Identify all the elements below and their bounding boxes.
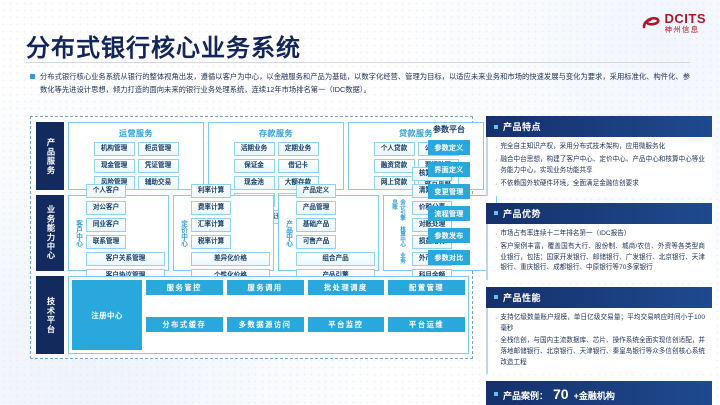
panel-header: 产品特点 bbox=[486, 116, 712, 137]
intro-paragraph: 分布式银行核心业务系统从银行的整体视角出发，遵循以客户为中心，以金融服务和产品为… bbox=[30, 70, 690, 97]
cell-item[interactable]: 联系管理 bbox=[86, 235, 126, 249]
case-label: 产品案例： bbox=[503, 389, 548, 402]
cell-item[interactable]: 保证金 bbox=[234, 159, 275, 173]
cell-item[interactable]: 利率计算 bbox=[191, 184, 231, 198]
panel-title: 产品优势 bbox=[503, 207, 541, 220]
logo-brand-text: DCITS bbox=[665, 12, 707, 25]
cell-item[interactable]: 定期业务 bbox=[278, 142, 319, 156]
parameter-platform-title: 参数平台 bbox=[428, 124, 470, 135]
panel-product-performance: 产品性能 · 支持亿级数量账户规模，单日亿级交易量；平均交易响应时间小于100毫… bbox=[486, 287, 712, 374]
list-item-text: 不依赖国外软硬件环境，全面满足金融信创要求 bbox=[500, 179, 638, 190]
cell-item[interactable]: 个人贷款 bbox=[374, 142, 415, 156]
side-label-accounting-center: 会计引擎 核算中心 业务总账 bbox=[387, 199, 409, 267]
list-item: · 完全自主知识产权，采用分布式技术架构，应用微服务化 bbox=[495, 142, 705, 153]
tech-button-grid: 服务管控 服务调用 批处理调度 配置管理 分布式缓存 多数据源访问 平台监控 平… bbox=[146, 280, 465, 350]
panel-product-advantages: 产品优势 · 市场占有率连续十二年排名第一（IDC报告） · 客户案例丰富，覆盖… bbox=[486, 203, 712, 280]
list-item-text: 市场占有率连续十二年排名第一（IDC报告） bbox=[500, 229, 630, 240]
architecture-diagram: 产品服务 运营服务 机构管理 柜员管理 现金管理 凭证管理 风险管理 辅助交易 … bbox=[30, 116, 473, 359]
panel-title: 产品性能 bbox=[503, 291, 541, 304]
group-operation-services: 运营服务 机构管理 柜员管理 现金管理 凭证管理 风险管理 辅助交易 bbox=[68, 122, 204, 190]
tech-button[interactable]: 多数据源访问 bbox=[227, 317, 304, 332]
list-item-text: 支持亿级数量账户规模，单日亿级交易量；平均交易响应时间小于100毫秒 bbox=[500, 313, 705, 334]
cell-item[interactable]: 组合产品 bbox=[296, 252, 375, 266]
cell-item[interactable]: 网上贷款 bbox=[374, 176, 415, 190]
list-bullet-icon: · bbox=[495, 229, 497, 240]
group-title-deposit: 存款服务 bbox=[212, 126, 340, 142]
cell-list-customer-center: 个人客户 对公客户 同业客户 联系管理 客户关系管理 客户协议管理 bbox=[86, 199, 165, 267]
cell-item[interactable]: 汇率计算 bbox=[191, 218, 231, 232]
panel-body: · 完全自主知识产权，采用分布式技术架构，应用微服务化 · 融合中台思想，构建了… bbox=[486, 137, 712, 196]
page-title: 分布式银行核心业务系统 bbox=[26, 28, 301, 63]
group-pricing-center: 定价中心 利率计算 费率计算 汇率计算 税率计算 差异化价格 个性化价格 bbox=[173, 195, 274, 271]
panel-product-features: 产品特点 · 完全自主知识产权，采用分布式技术架构，应用微服务化 · 融合中台思… bbox=[486, 116, 712, 196]
cell-item[interactable]: 现金管理 bbox=[94, 159, 135, 173]
tech-button[interactable]: 服务调用 bbox=[227, 280, 304, 295]
side-label-product-center: 产品中心 bbox=[282, 199, 293, 267]
group-customer-center: 客户中心 个人客户 对公客户 同业客户 联系管理 客户关系管理 客户协议管理 bbox=[68, 195, 169, 271]
cell-item[interactable]: 税率计算 bbox=[191, 235, 231, 249]
product-case-banner: 产品案例： 70 +金融机构 bbox=[486, 381, 712, 405]
dcits-logo-mark-icon bbox=[641, 13, 661, 33]
panel-title: 产品特点 bbox=[503, 120, 541, 133]
logo-brand-cn: 神州信息 bbox=[665, 26, 707, 34]
band-label-tech-platform: 技术平台 bbox=[36, 276, 64, 354]
panel-bullet-icon bbox=[494, 295, 498, 299]
case-suffix: +金融机构 bbox=[574, 389, 615, 402]
cell-item[interactable]: 个人客户 bbox=[86, 184, 126, 198]
bullet-square-icon bbox=[30, 74, 35, 79]
cell-item[interactable]: 费率计算 bbox=[191, 201, 231, 215]
list-item-text: 完全自主知识产权，采用分布式技术架构，应用微服务化 bbox=[500, 142, 665, 153]
tech-button[interactable]: 服务管控 bbox=[146, 280, 223, 295]
list-bullet-icon: · bbox=[495, 179, 497, 190]
tech-platform-panel: 注册中心 服务管控 服务调用 批处理调度 配置管理 分布式缓存 多数据源访问 平… bbox=[68, 276, 469, 354]
cell-item[interactable]: 差异化价格 bbox=[191, 252, 270, 266]
param-button[interactable]: 变更管理 bbox=[428, 184, 470, 199]
list-bullet-icon: · bbox=[495, 313, 497, 334]
band-label-product-services: 产品服务 bbox=[36, 122, 64, 190]
side-label-pricing-center: 定价中心 bbox=[177, 199, 188, 267]
list-item: · 不依赖国外软硬件环境，全面满足金融信创要求 bbox=[495, 179, 705, 190]
cell-list-pricing-center: 利率计算 费率计算 汇率计算 税率计算 差异化价格 个性化价格 bbox=[191, 199, 270, 267]
cell-item[interactable]: 同业客户 bbox=[86, 218, 126, 232]
tech-button[interactable]: 平台监控 bbox=[308, 317, 385, 332]
cell-item[interactable]: 辅助交易 bbox=[138, 176, 179, 190]
case-bullet-icon bbox=[494, 392, 498, 396]
param-button[interactable]: 流程管理 bbox=[428, 206, 470, 221]
cell-item[interactable]: 基础产品 bbox=[296, 218, 336, 232]
list-item: · 市场占有率连续十二年排名第一（IDC报告） bbox=[495, 229, 705, 240]
cell-item[interactable]: 产品管理 bbox=[296, 201, 336, 215]
slide-root: DCITS 神州信息 分布式银行核心业务系统 分布式银行核心业务系统从银行的整体… bbox=[0, 0, 720, 405]
param-button[interactable]: 参数对比 bbox=[428, 250, 470, 265]
cell-item[interactable]: 借记卡 bbox=[278, 159, 319, 173]
panel-body: · 支持亿级数量账户规模，单日亿级交易量；平均交易响应时间小于100毫秒 · 全… bbox=[486, 308, 712, 374]
list-bullet-icon: · bbox=[495, 242, 497, 274]
param-button[interactable]: 参数定义 bbox=[428, 140, 470, 155]
panel-header: 产品性能 bbox=[486, 287, 712, 308]
side-label-customer-center: 客户中心 bbox=[72, 199, 83, 267]
panel-header: 产品优势 bbox=[486, 203, 712, 224]
list-item-text: 全栈信创，与国内主流数据库、芯片、操作系统全面实现信创适配，并落地邮储银行、北京… bbox=[500, 336, 705, 368]
group-title-operation: 运营服务 bbox=[72, 126, 200, 142]
dcits-logo: DCITS 神州信息 bbox=[641, 12, 707, 34]
cell-item[interactable]: 产品定义 bbox=[296, 184, 336, 198]
cell-item[interactable]: 凭证管理 bbox=[138, 159, 179, 173]
cell-list-product-center: 产品定义 产品管理 基础产品 可售产品 组合产品 产品引擎 bbox=[296, 199, 375, 267]
band-label-business-capability: 业务能力中心 bbox=[36, 195, 64, 271]
tech-button[interactable]: 平台运维 bbox=[388, 317, 465, 332]
list-item: · 客户案例丰富，覆盖国有大行、股份制、城商/农信、外资等各类型商业银行，包括：… bbox=[495, 242, 705, 274]
title-divider bbox=[26, 62, 690, 63]
cell-item[interactable]: 活期业务 bbox=[234, 142, 275, 156]
cell-item[interactable]: 客户关系管理 bbox=[86, 252, 165, 266]
param-button[interactable]: 参数发布 bbox=[428, 228, 470, 243]
band-product-services: 产品服务 运营服务 机构管理 柜员管理 现金管理 凭证管理 风险管理 辅助交易 … bbox=[36, 122, 469, 190]
cell-item[interactable]: 现金池 bbox=[234, 176, 275, 190]
tech-button[interactable]: 分布式缓存 bbox=[146, 317, 223, 332]
intro-text: 分布式银行核心业务系统从银行的整体视角出发，遵循以客户为中心，以金融服务和产品为… bbox=[40, 70, 690, 97]
cell-item[interactable]: 柜员管理 bbox=[138, 142, 179, 156]
group-deposit-services: 存款服务 活期业务 定期业务 保证金 借记卡 现金池 大额存款 结构性存款 账户… bbox=[208, 122, 344, 190]
list-item: · 全栈信创，与国内主流数据库、芯片、操作系统全面实现信创适配，并落地邮储银行、… bbox=[495, 336, 705, 368]
cell-item[interactable]: 对公客户 bbox=[86, 201, 126, 215]
case-number: 70 bbox=[553, 386, 569, 402]
list-bullet-icon: · bbox=[495, 155, 497, 176]
tech-button[interactable]: 配置管理 bbox=[388, 280, 465, 295]
list-item-text: 客户案例丰富，覆盖国有大行、股份制、城商/农信、外资等各类型商业银行，包括：国家… bbox=[500, 242, 705, 274]
band-tech-platform: 技术平台 注册中心 服务管控 服务调用 批处理调度 配置管理 分布式缓存 多数据… bbox=[36, 276, 469, 354]
list-item: · 支持亿级数量账户规模，单日亿级交易量；平均交易响应时间小于100毫秒 bbox=[495, 313, 705, 334]
register-center-button[interactable]: 注册中心 bbox=[72, 280, 142, 350]
list-bullet-icon: · bbox=[495, 142, 497, 153]
band-business-capability: 业务能力中心 客户中心 个人客户 对公客户 同业客户 联系管理 客户关系管理 客… bbox=[36, 195, 469, 271]
list-item: · 融合中台思想，构建了客户中心、定价中心、产品中心和核算中心等业务能力中心，实… bbox=[495, 155, 705, 176]
group-product-center: 产品中心 产品定义 产品管理 基础产品 可售产品 组合产品 产品引擎 bbox=[278, 195, 379, 271]
cell-item[interactable]: 融资贷款 bbox=[374, 159, 415, 173]
list-item-text: 融合中台思想，构建了客户中心、定价中心、产品中心和核算中心等业务能力中心，实现业… bbox=[500, 155, 705, 176]
cell-item[interactable]: 可售产品 bbox=[296, 235, 336, 249]
param-button[interactable]: 界面定义 bbox=[428, 162, 470, 177]
panel-body: · 市场占有率连续十二年排名第一（IDC报告） · 客户案例丰富，覆盖国有大行、… bbox=[486, 224, 712, 280]
parameter-platform: 参数平台 参数定义 界面定义 变更管理 流程管理 参数发布 参数对比 bbox=[428, 124, 470, 272]
tech-button[interactable]: 批处理调度 bbox=[308, 280, 385, 295]
panel-bullet-icon bbox=[494, 211, 498, 215]
cell-item[interactable]: 机构管理 bbox=[94, 142, 135, 156]
info-panels: 产品特点 · 完全自主知识产权，采用分布式技术架构，应用微服务化 · 融合中台思… bbox=[486, 116, 712, 405]
panel-bullet-icon bbox=[494, 125, 498, 129]
list-bullet-icon: · bbox=[495, 336, 497, 368]
